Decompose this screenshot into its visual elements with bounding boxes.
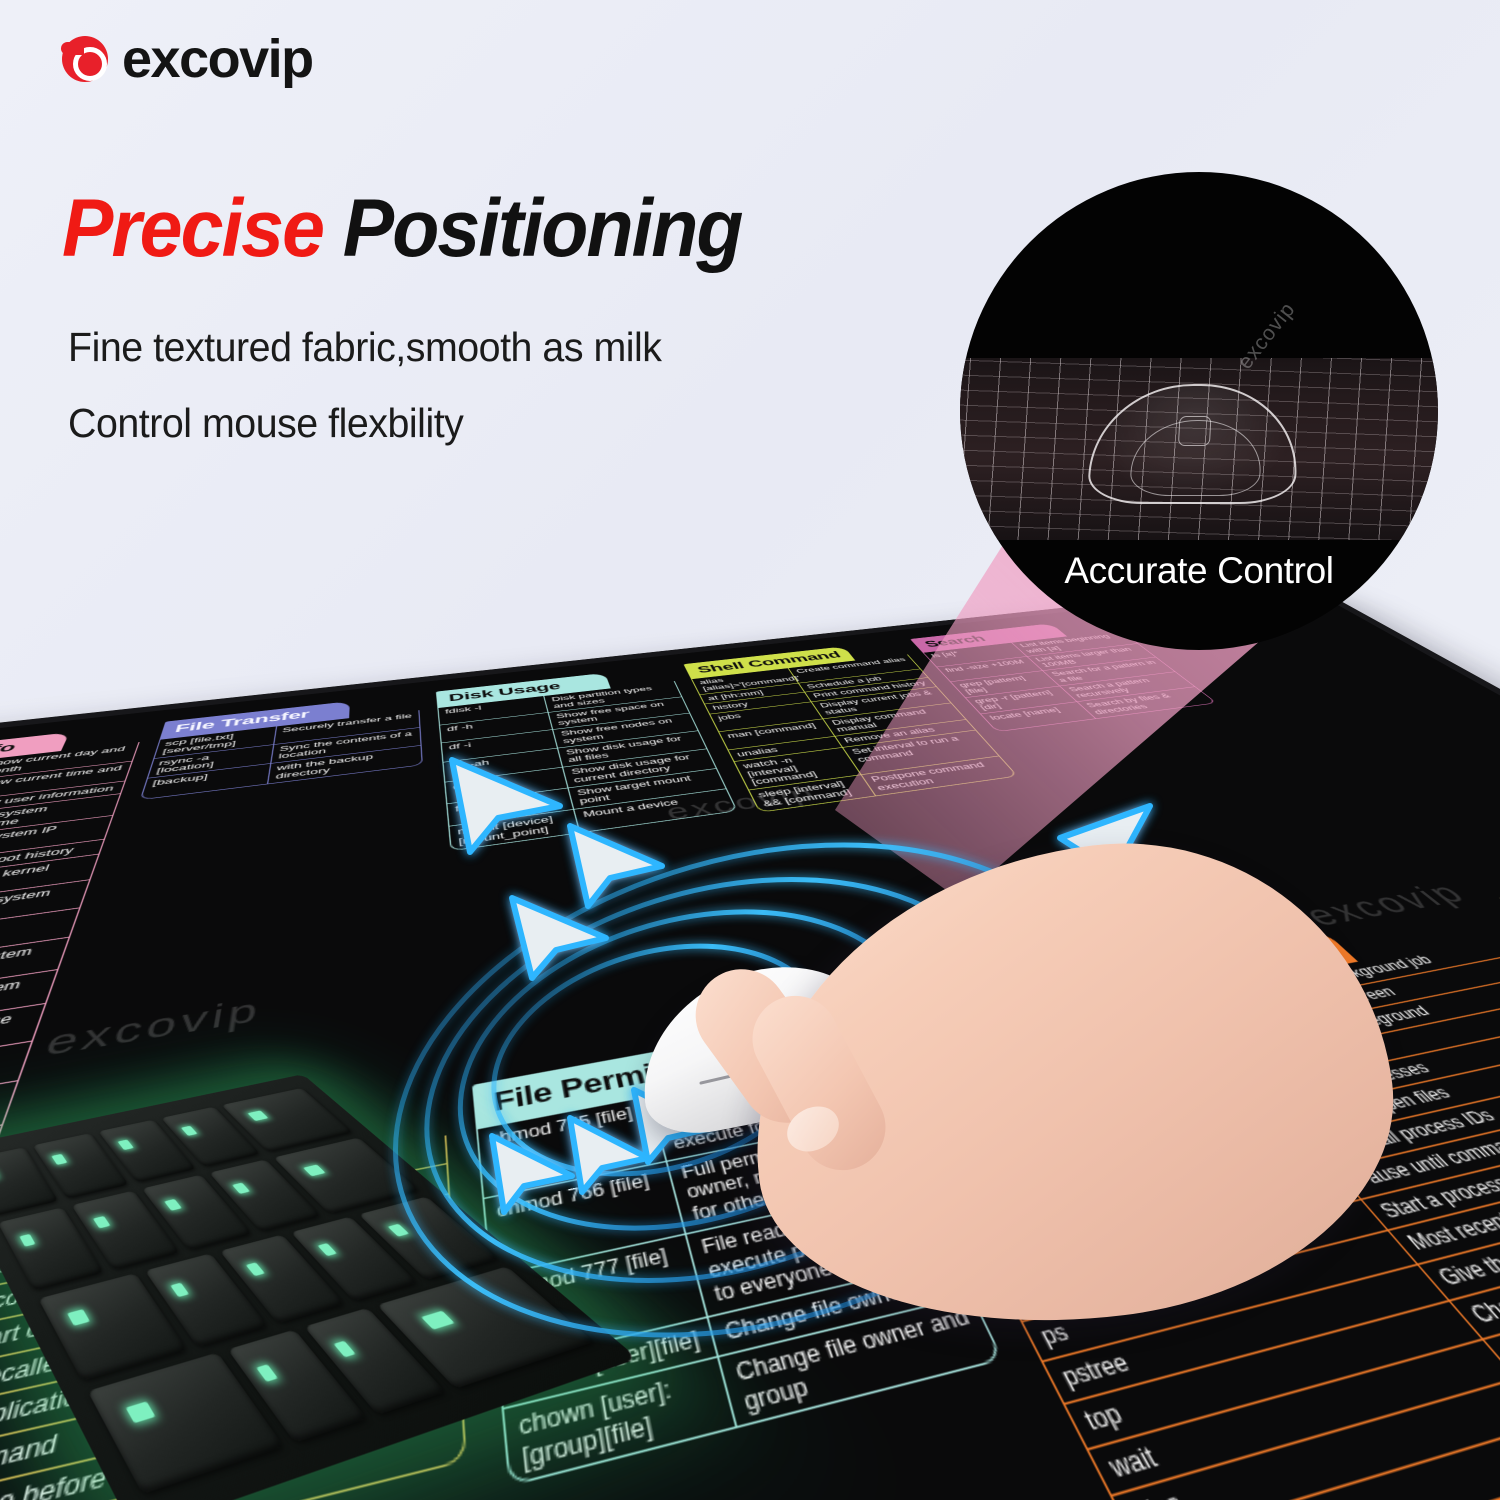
chevron-left-icon: ‹‹‹ <box>960 606 1002 650</box>
section-rows: fdisk -lDisk partition types and sizesdf… <box>438 681 738 851</box>
chevron-right-icon: ››› <box>1398 606 1438 650</box>
hand-and-mouse <box>600 840 1360 1400</box>
inset-surface-band: ‹‹‹ ››› <box>960 358 1438 540</box>
inset-caption: Accurate Control <box>960 550 1438 592</box>
accurate-control-inset: ‹‹‹ ››› excovip Accurate Control <box>960 172 1438 650</box>
